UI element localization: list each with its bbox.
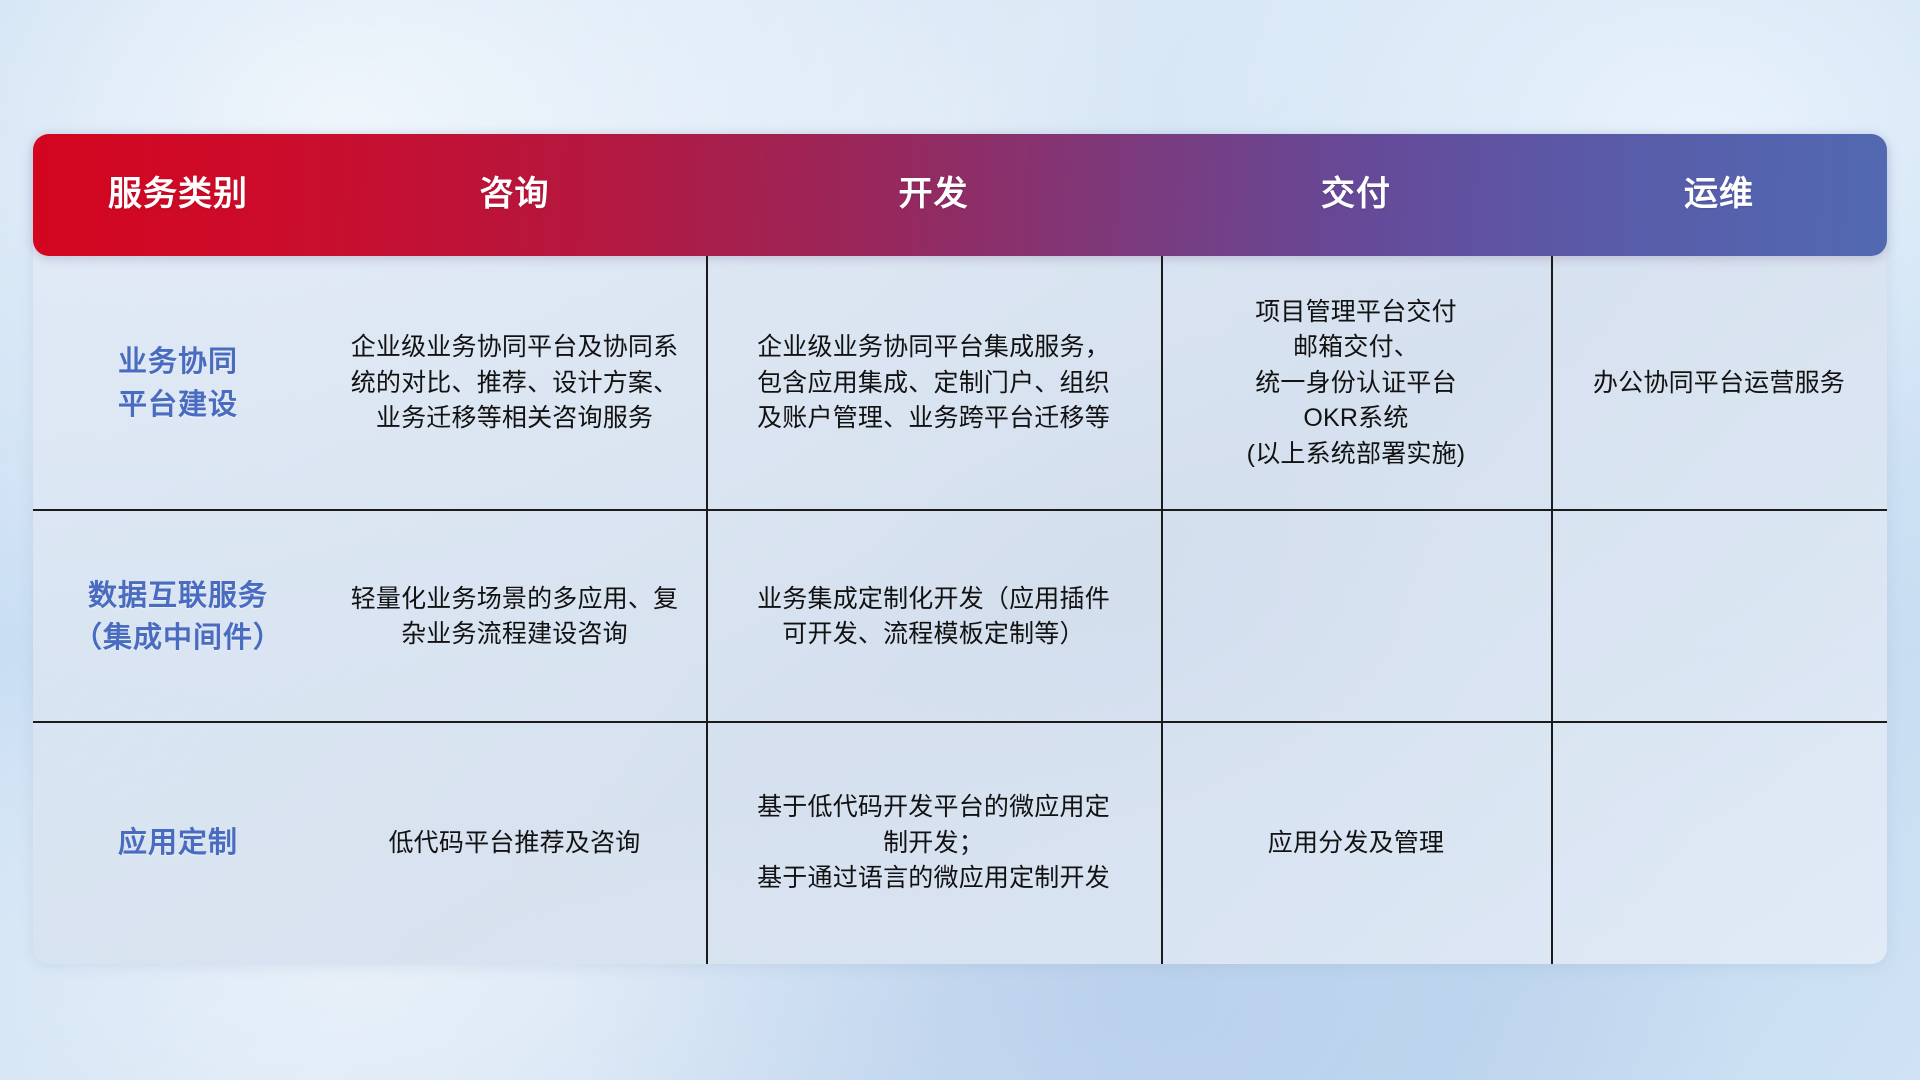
- row-label-data-interconnect: 数据互联服务 （集成中间件）: [33, 511, 323, 723]
- cell-r2-operations: [1551, 511, 1887, 723]
- cell-r3-development: 基于低代码开发平台的微应用定 制开发； 基于通过语言的微应用定制开发: [706, 723, 1161, 964]
- cell-r2-consulting: 轻量化业务场景的多应用、复 杂业务流程建设咨询: [323, 511, 706, 723]
- service-matrix-table: 服务类别 咨询 开发 交付 运维 业务协同 平台建设 企业级业务协同平台及协同系…: [33, 134, 1887, 964]
- table-row[interactable]: 业务协同 平台建设 企业级业务协同平台及协同系 统的对比、推荐、设计方案、 业务…: [33, 256, 1887, 511]
- cell-r1-consulting: 企业级业务协同平台及协同系 统的对比、推荐、设计方案、 业务迁移等相关咨询服务: [323, 256, 706, 511]
- row-label-business-collaboration: 业务协同 平台建设: [33, 256, 323, 511]
- cell-r1-development: 企业级业务协同平台集成服务， 包含应用集成、定制门户、组织 及账户管理、业务跨平…: [706, 256, 1161, 511]
- cell-r1-operations: 办公协同平台运营服务: [1551, 256, 1887, 511]
- table-header-row: 服务类别 咨询 开发 交付 运维: [33, 134, 1887, 256]
- cell-r1-delivery: 项目管理平台交付 邮箱交付、 统一身份认证平台 OKR系统 (以上系统部署实施): [1161, 256, 1551, 511]
- slide-canvas: 服务类别 咨询 开发 交付 运维 业务协同 平台建设 企业级业务协同平台及协同系…: [0, 0, 1920, 1080]
- table-row[interactable]: 数据互联服务 （集成中间件） 轻量化业务场景的多应用、复 杂业务流程建设咨询 业…: [33, 511, 1887, 723]
- column-header-delivery[interactable]: 交付: [1161, 176, 1551, 213]
- cell-r3-consulting: 低代码平台推荐及咨询: [323, 723, 706, 964]
- cell-r3-operations: [1551, 723, 1887, 964]
- column-header-consulting[interactable]: 咨询: [323, 176, 706, 213]
- table-body: 业务协同 平台建设 企业级业务协同平台及协同系 统的对比、推荐、设计方案、 业务…: [33, 256, 1887, 964]
- table-row[interactable]: 应用定制 低代码平台推荐及咨询 基于低代码开发平台的微应用定 制开发； 基于通过…: [33, 723, 1887, 964]
- column-header-development[interactable]: 开发: [706, 176, 1161, 213]
- column-header-operations[interactable]: 运维: [1551, 176, 1887, 213]
- cell-r2-delivery: [1161, 511, 1551, 723]
- column-header-category[interactable]: 服务类别: [33, 176, 323, 213]
- cell-r2-development: 业务集成定制化开发（应用插件 可开发、流程模板定制等）: [706, 511, 1161, 723]
- row-label-app-customization: 应用定制: [33, 723, 323, 964]
- cell-r3-delivery: 应用分发及管理: [1161, 723, 1551, 964]
